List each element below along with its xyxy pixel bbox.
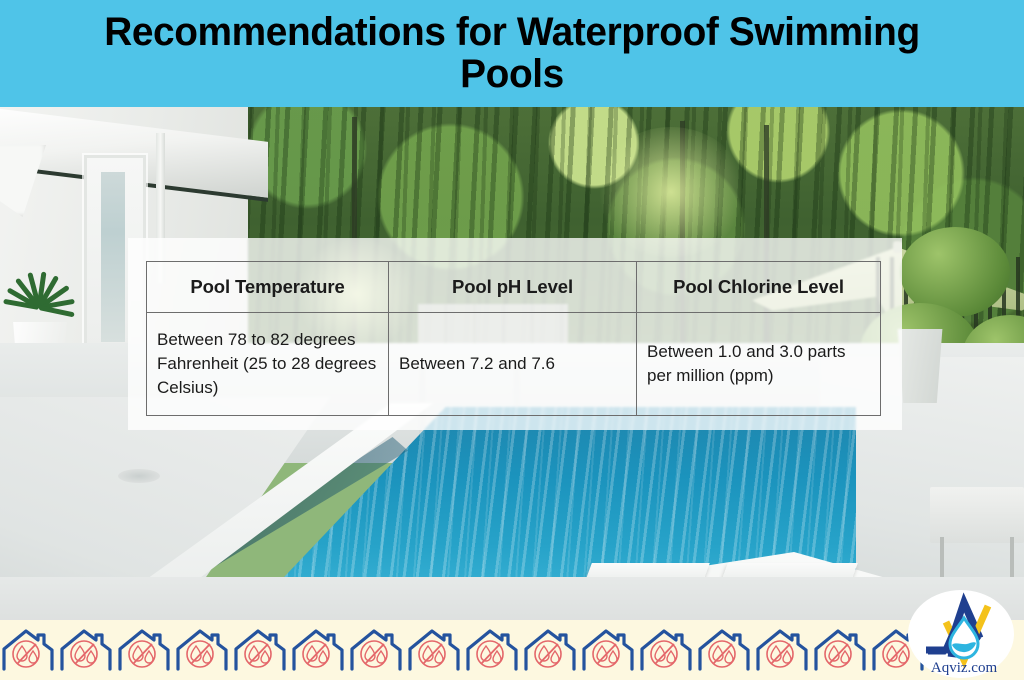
cell-pool-temperature-value: Between 78 to 82 degrees Fahrenheit (25 …	[147, 313, 389, 416]
waterproof-house-icon	[522, 627, 580, 673]
waterproof-house-icon	[116, 627, 174, 673]
column-header-pool-temperature: Pool Temperature	[147, 262, 389, 313]
column-header-pool-ph-level: Pool pH Level	[389, 262, 637, 313]
waterproof-pattern-strip	[0, 620, 1024, 680]
waterproof-house-icon	[754, 627, 812, 673]
header-band: Recommendations for Waterproof Swimming …	[0, 0, 1024, 107]
aqviz-logo-mark: Aqviz.com	[914, 592, 1014, 676]
lounge-chair-leg	[1010, 537, 1014, 577]
page-title: Recommendations for Waterproof Swimming …	[15, 12, 1008, 95]
waterproof-house-icon	[0, 627, 58, 673]
waterproof-house-icon	[696, 627, 754, 673]
waterproof-house-icon	[174, 627, 232, 673]
cell-pool-ph-value: Between 7.2 and 7.6	[389, 313, 637, 416]
waterproof-house-icon	[638, 627, 696, 673]
pool-recommendations-table: Pool Temperature Pool pH Level Pool Chlo…	[146, 261, 881, 416]
roof-bracket	[0, 145, 46, 217]
cell-pool-chlorine-value: Between 1.0 and 3.0 parts per million (p…	[637, 313, 881, 416]
deck-drain	[118, 469, 160, 483]
column-header-pool-chlorine-level: Pool Chlorine Level	[637, 262, 881, 313]
table-row: Between 78 to 82 degrees Fahrenheit (25 …	[147, 313, 881, 416]
patio-deck-near	[0, 577, 1024, 620]
infographic-root: Recommendations for Waterproof Swimming …	[0, 0, 1024, 680]
table-header-row: Pool Temperature Pool pH Level Pool Chlo…	[147, 262, 881, 313]
lounge-chair-leg	[940, 537, 944, 577]
waterproof-house-icon	[406, 627, 464, 673]
brand-logo[interactable]: Aqviz.com	[908, 590, 1020, 678]
palm-plant	[2, 275, 80, 335]
waterproof-house-icon	[290, 627, 348, 673]
waterproof-house-icon	[58, 627, 116, 673]
waterproof-house-icon	[812, 627, 870, 673]
door-glass-panel	[101, 172, 125, 342]
logo-brand-text: Aqviz.com	[931, 660, 998, 676]
waterproof-house-icon	[348, 627, 406, 673]
lounge-chair	[930, 487, 1024, 543]
waterproof-house-icon	[464, 627, 522, 673]
waterproof-house-icon	[232, 627, 290, 673]
waterproof-house-icon	[580, 627, 638, 673]
